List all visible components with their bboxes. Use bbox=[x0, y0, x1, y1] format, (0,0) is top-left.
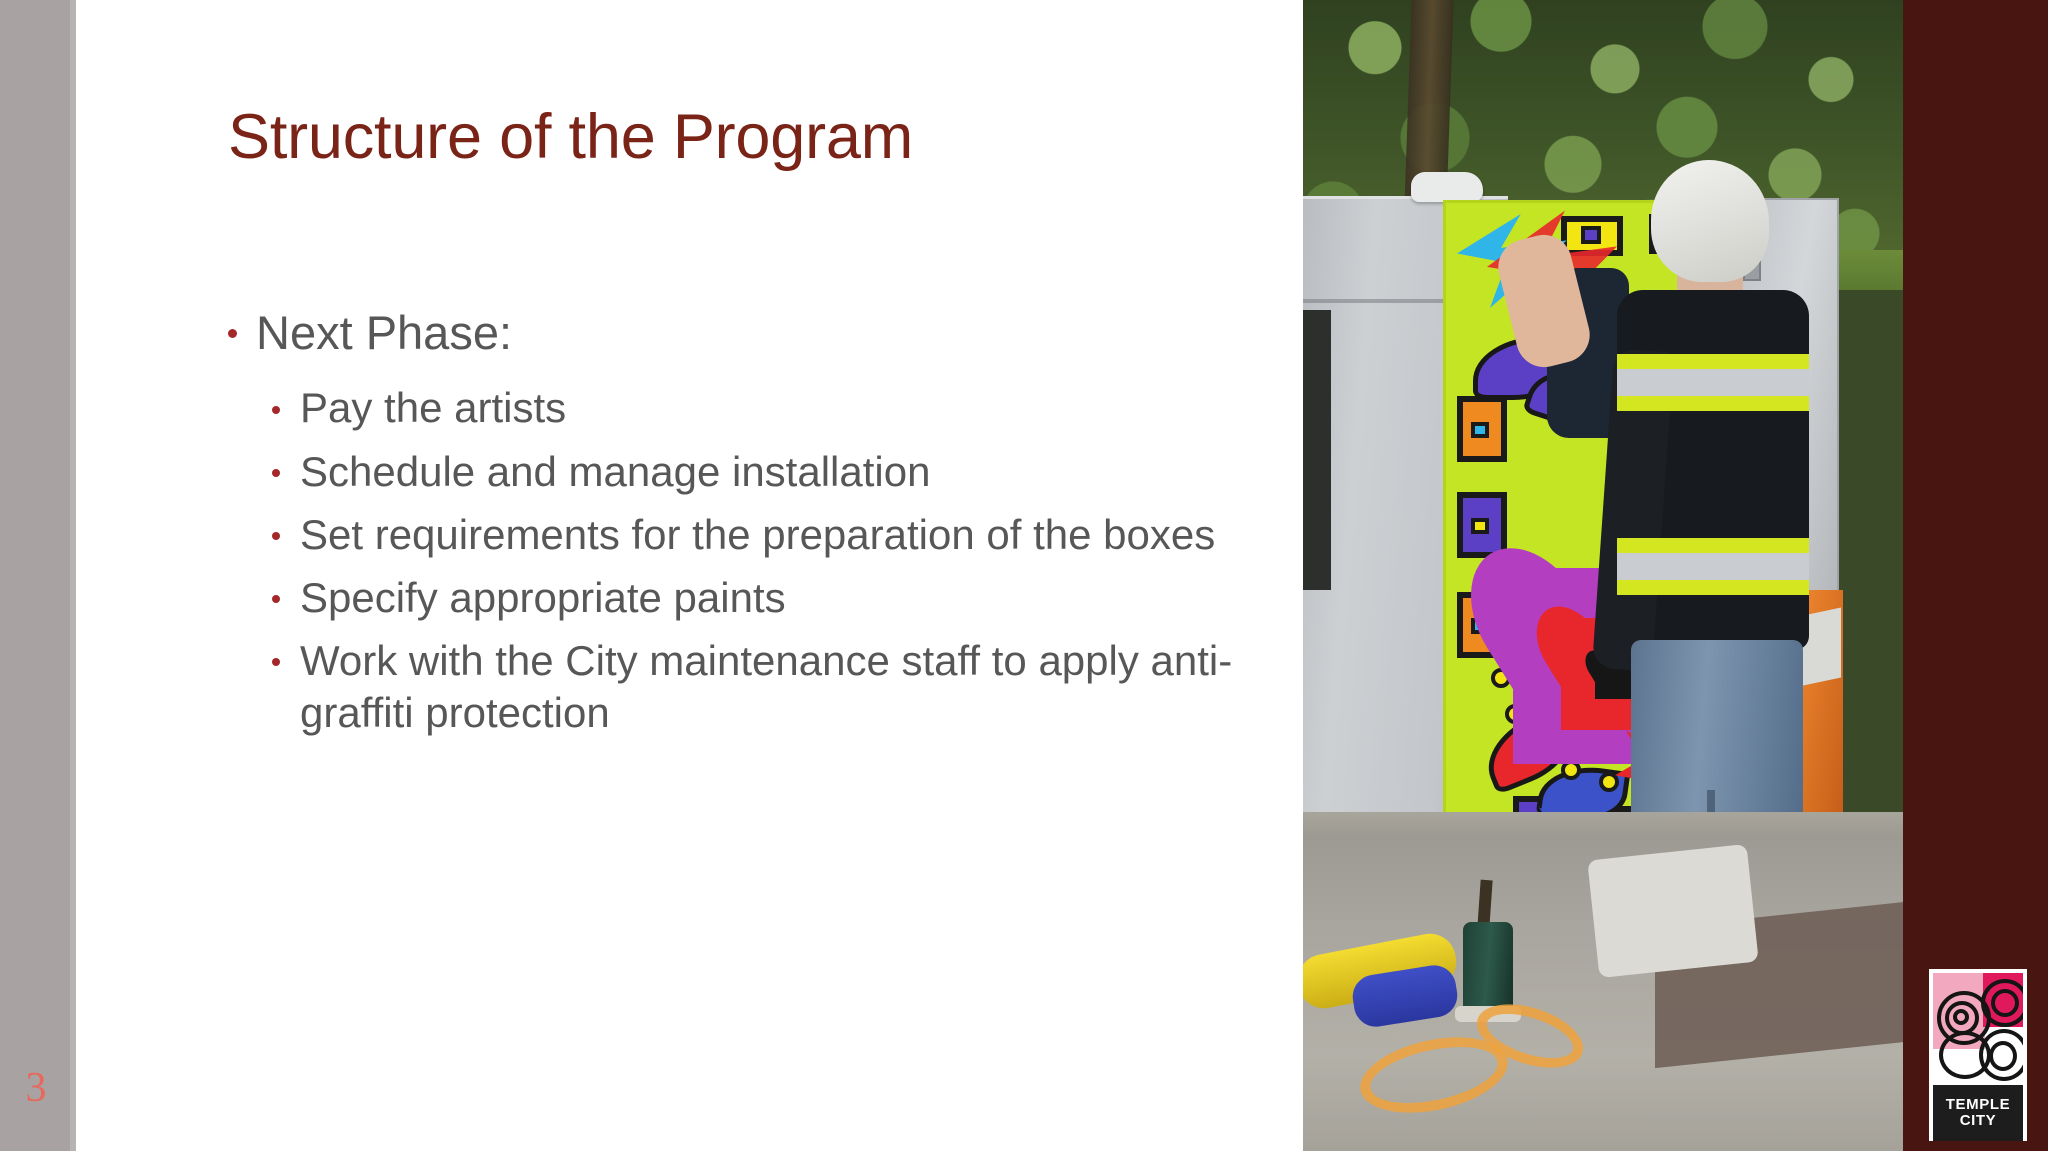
list-item: Work with the City maintenance staff to … bbox=[220, 635, 1280, 737]
temple-city-logo: TEMPLE CITY bbox=[1929, 969, 2027, 1141]
logo-petal bbox=[1989, 1041, 2017, 1071]
logo-petal bbox=[1953, 1009, 1969, 1025]
bullet-dot-icon bbox=[228, 329, 237, 338]
list-item-label: Next Phase: bbox=[256, 306, 512, 359]
worker-hair bbox=[1651, 160, 1769, 282]
sub-bullet-list: Pay the artists Schedule and manage inst… bbox=[220, 382, 1280, 737]
drop-cloth bbox=[1587, 844, 1758, 978]
bullet-dot-icon bbox=[272, 595, 280, 603]
logo-petal bbox=[1991, 989, 2019, 1017]
paint-canister bbox=[1463, 922, 1513, 1012]
list-item-label: Schedule and manage installation bbox=[300, 448, 930, 495]
page-title: Structure of the Program bbox=[228, 104, 1228, 170]
bullet-dot-icon bbox=[272, 532, 280, 540]
bullet-dot-icon bbox=[272, 658, 280, 666]
white-object-on-cabinet bbox=[1411, 172, 1483, 202]
list-item: Specify appropriate paints bbox=[220, 572, 1280, 623]
left-accent-bar bbox=[0, 0, 70, 1151]
logo-name-line1: TEMPLE bbox=[1946, 1097, 2010, 1113]
vest-yellow-stripe bbox=[1617, 538, 1809, 553]
left-accent-divider bbox=[70, 0, 76, 1151]
slide-photo bbox=[1303, 0, 1903, 1151]
list-item: Set requirements for the preparation of … bbox=[220, 509, 1280, 560]
list-item-label: Pay the artists bbox=[300, 384, 566, 431]
list-item-label: Set requirements for the preparation of … bbox=[300, 511, 1215, 558]
list-item-label: Work with the City maintenance staff to … bbox=[300, 637, 1232, 735]
mural-pixel-block bbox=[1471, 422, 1489, 438]
list-item: Pay the artists bbox=[220, 382, 1280, 433]
logo-name-line2: CITY bbox=[1960, 1113, 1997, 1129]
logo-rose-artwork bbox=[1933, 973, 2023, 1085]
mural-pixel-block bbox=[1471, 518, 1489, 534]
cabinet-shadow-slot bbox=[1303, 310, 1331, 590]
maintenance-worker bbox=[1603, 140, 1903, 910]
bullet-dot-icon bbox=[272, 469, 280, 477]
list-item: Next Phase: bbox=[220, 305, 1280, 360]
bullet-list: Next Phase: Pay the artists Schedule and… bbox=[220, 305, 1280, 750]
vest-reflective-stripe bbox=[1617, 552, 1809, 582]
page-number: 3 bbox=[12, 1067, 60, 1109]
vest-yellow-stripe bbox=[1617, 396, 1809, 411]
list-item-label: Specify appropriate paints bbox=[300, 574, 786, 621]
mural-pixel-block bbox=[1581, 226, 1601, 244]
vest-reflective-stripe bbox=[1617, 368, 1809, 398]
list-item: Schedule and manage installation bbox=[220, 446, 1280, 497]
logo-wordmark: TEMPLE CITY bbox=[1933, 1085, 2023, 1141]
slide-canvas: 3 Structure of the Program Next Phase: P… bbox=[0, 0, 2048, 1151]
bullet-dot-icon bbox=[272, 406, 280, 414]
vest-yellow-stripe bbox=[1617, 580, 1809, 595]
vest-yellow-stripe bbox=[1617, 354, 1809, 369]
